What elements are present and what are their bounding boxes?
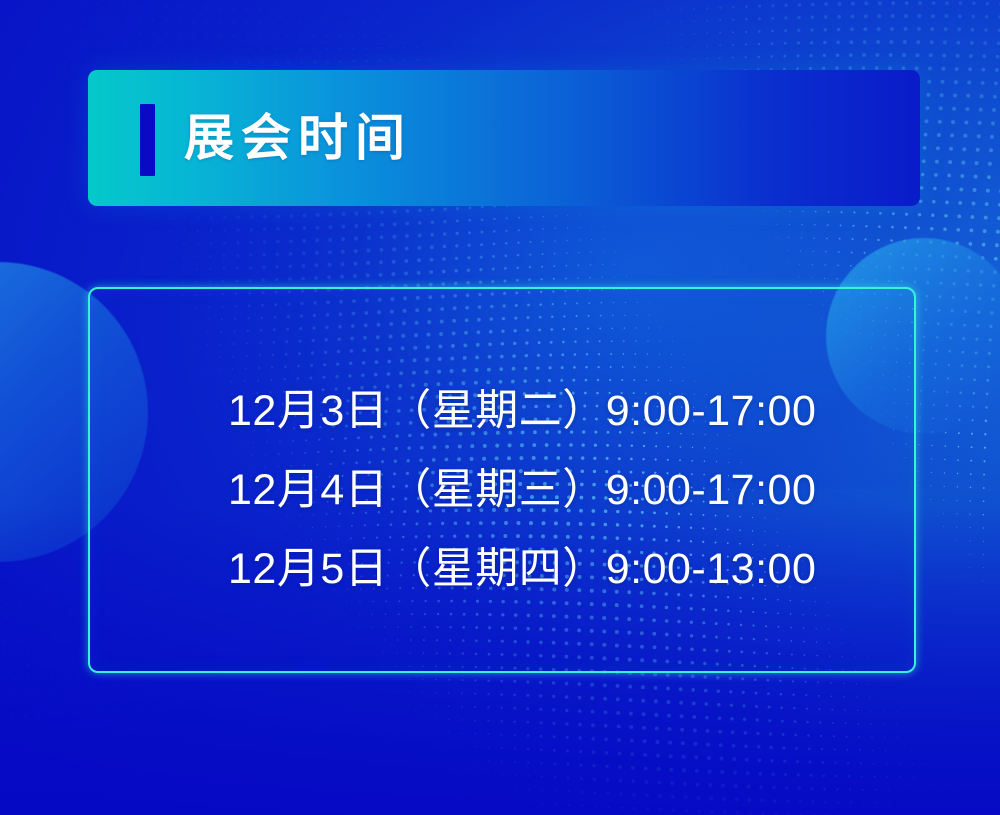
page-title: 展会时间	[184, 113, 412, 163]
schedule-line: 12月3日（星期二）9:00-17:00	[228, 372, 848, 451]
schedule-line: 12月4日（星期三）9:00-17:00	[228, 451, 848, 530]
exhibition-time-poster: 展会时间 12月3日（星期二）9:00-17:00 12月4日（星期三）9:00…	[0, 0, 1000, 815]
banner-accent-bar	[140, 104, 155, 176]
schedule-list: 12月3日（星期二）9:00-17:00 12月4日（星期三）9:00-17:0…	[228, 372, 848, 609]
title-banner: 展会时间	[88, 70, 920, 206]
schedule-line: 12月5日（星期四）9:00-13:00	[228, 530, 848, 609]
